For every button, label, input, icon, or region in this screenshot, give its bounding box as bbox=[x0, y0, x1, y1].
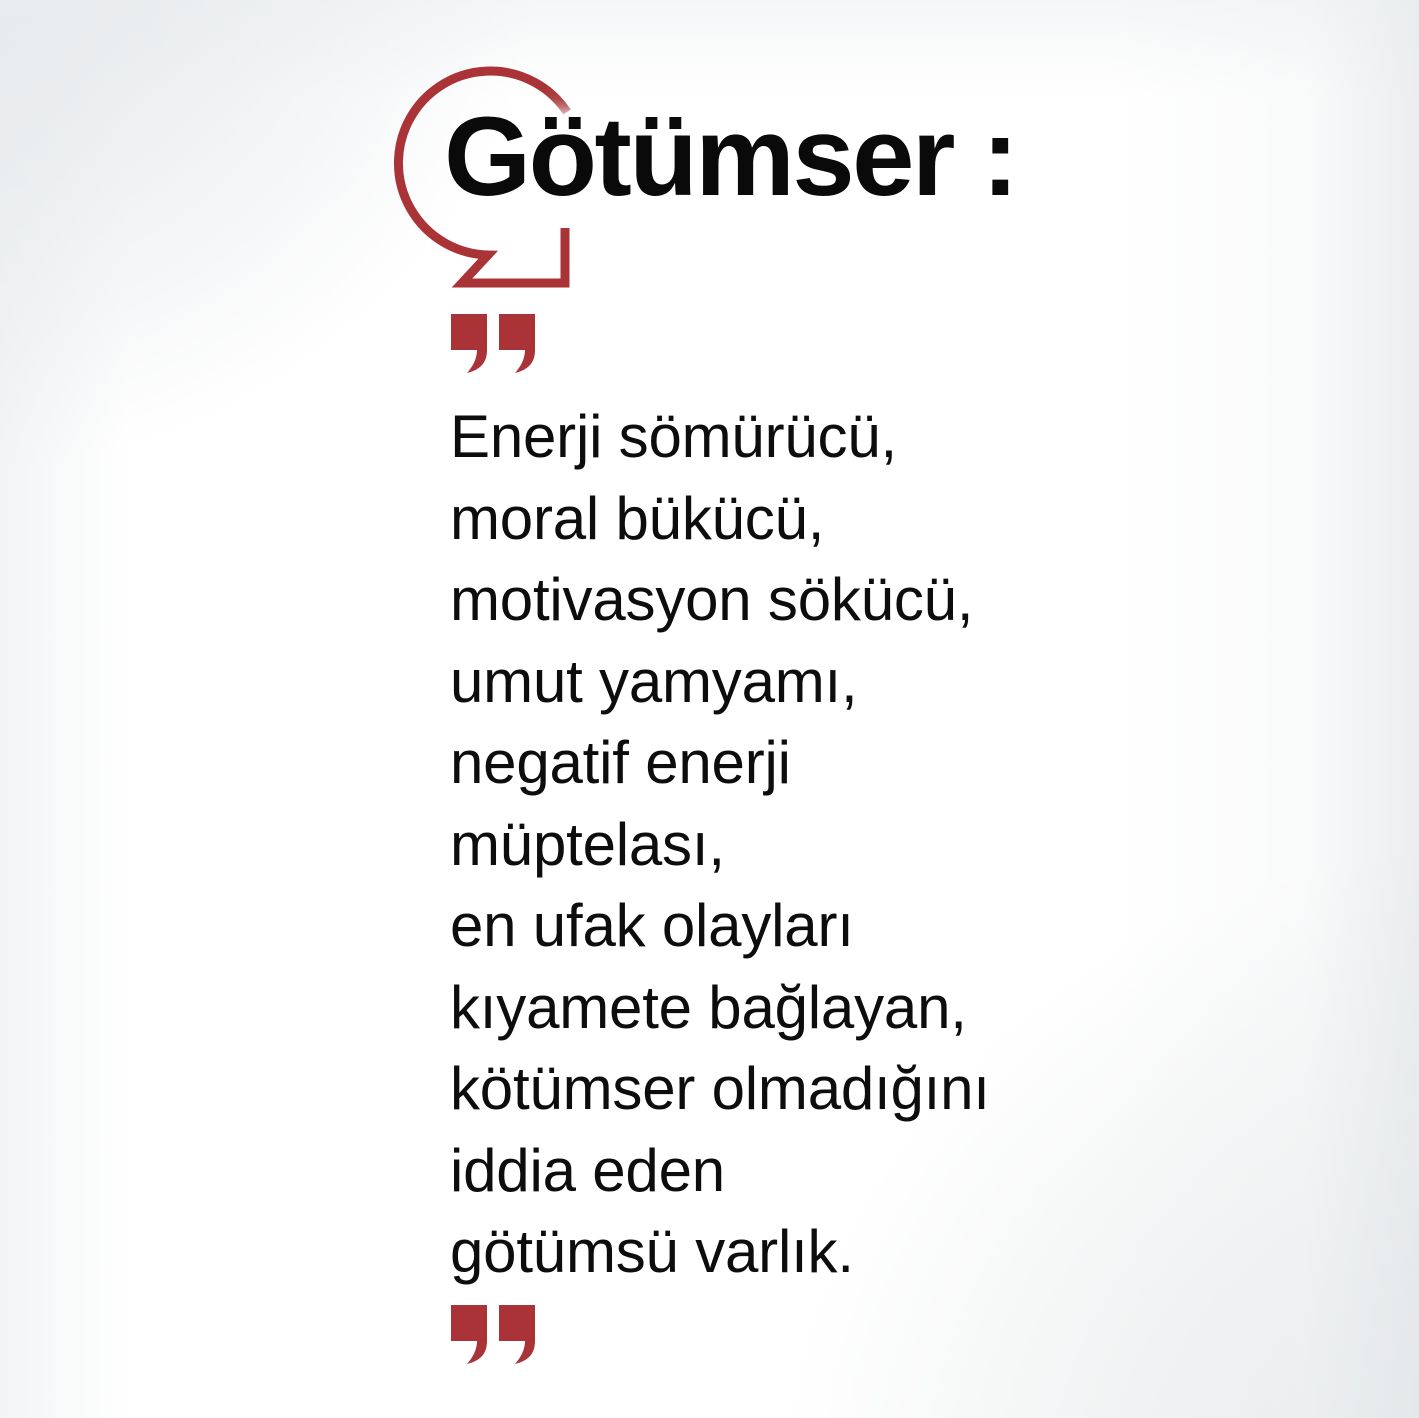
quote-line: müptelası, bbox=[450, 804, 1270, 886]
quote-line: motivasyon sökücü, bbox=[450, 559, 1270, 641]
quote-body: Enerji sömürücü, moral bükücü, motivasyo… bbox=[450, 396, 1270, 1293]
quote-close-icon bbox=[449, 1303, 545, 1365]
quote-line: umut yamyamı, bbox=[450, 641, 1270, 723]
quote-line: iddia eden bbox=[450, 1130, 1270, 1212]
quote-line: en ufak olayları bbox=[450, 885, 1270, 967]
quote-line: kötümser olmadığını bbox=[450, 1048, 1270, 1130]
quote-line: kıyamete bağlayan, bbox=[450, 967, 1270, 1049]
quote-card: Götümser : Enerji sömürücü, moral bükücü… bbox=[0, 0, 1419, 1418]
quote-line: negatif enerji bbox=[450, 722, 1270, 804]
page-title: Götümser : bbox=[444, 101, 1016, 213]
quote-line: Enerji sömürücü, bbox=[450, 396, 1270, 478]
quote-line: götümsü varlık. bbox=[450, 1211, 1270, 1293]
quote-open-icon bbox=[449, 312, 545, 374]
quote-line: moral bükücü, bbox=[450, 478, 1270, 560]
